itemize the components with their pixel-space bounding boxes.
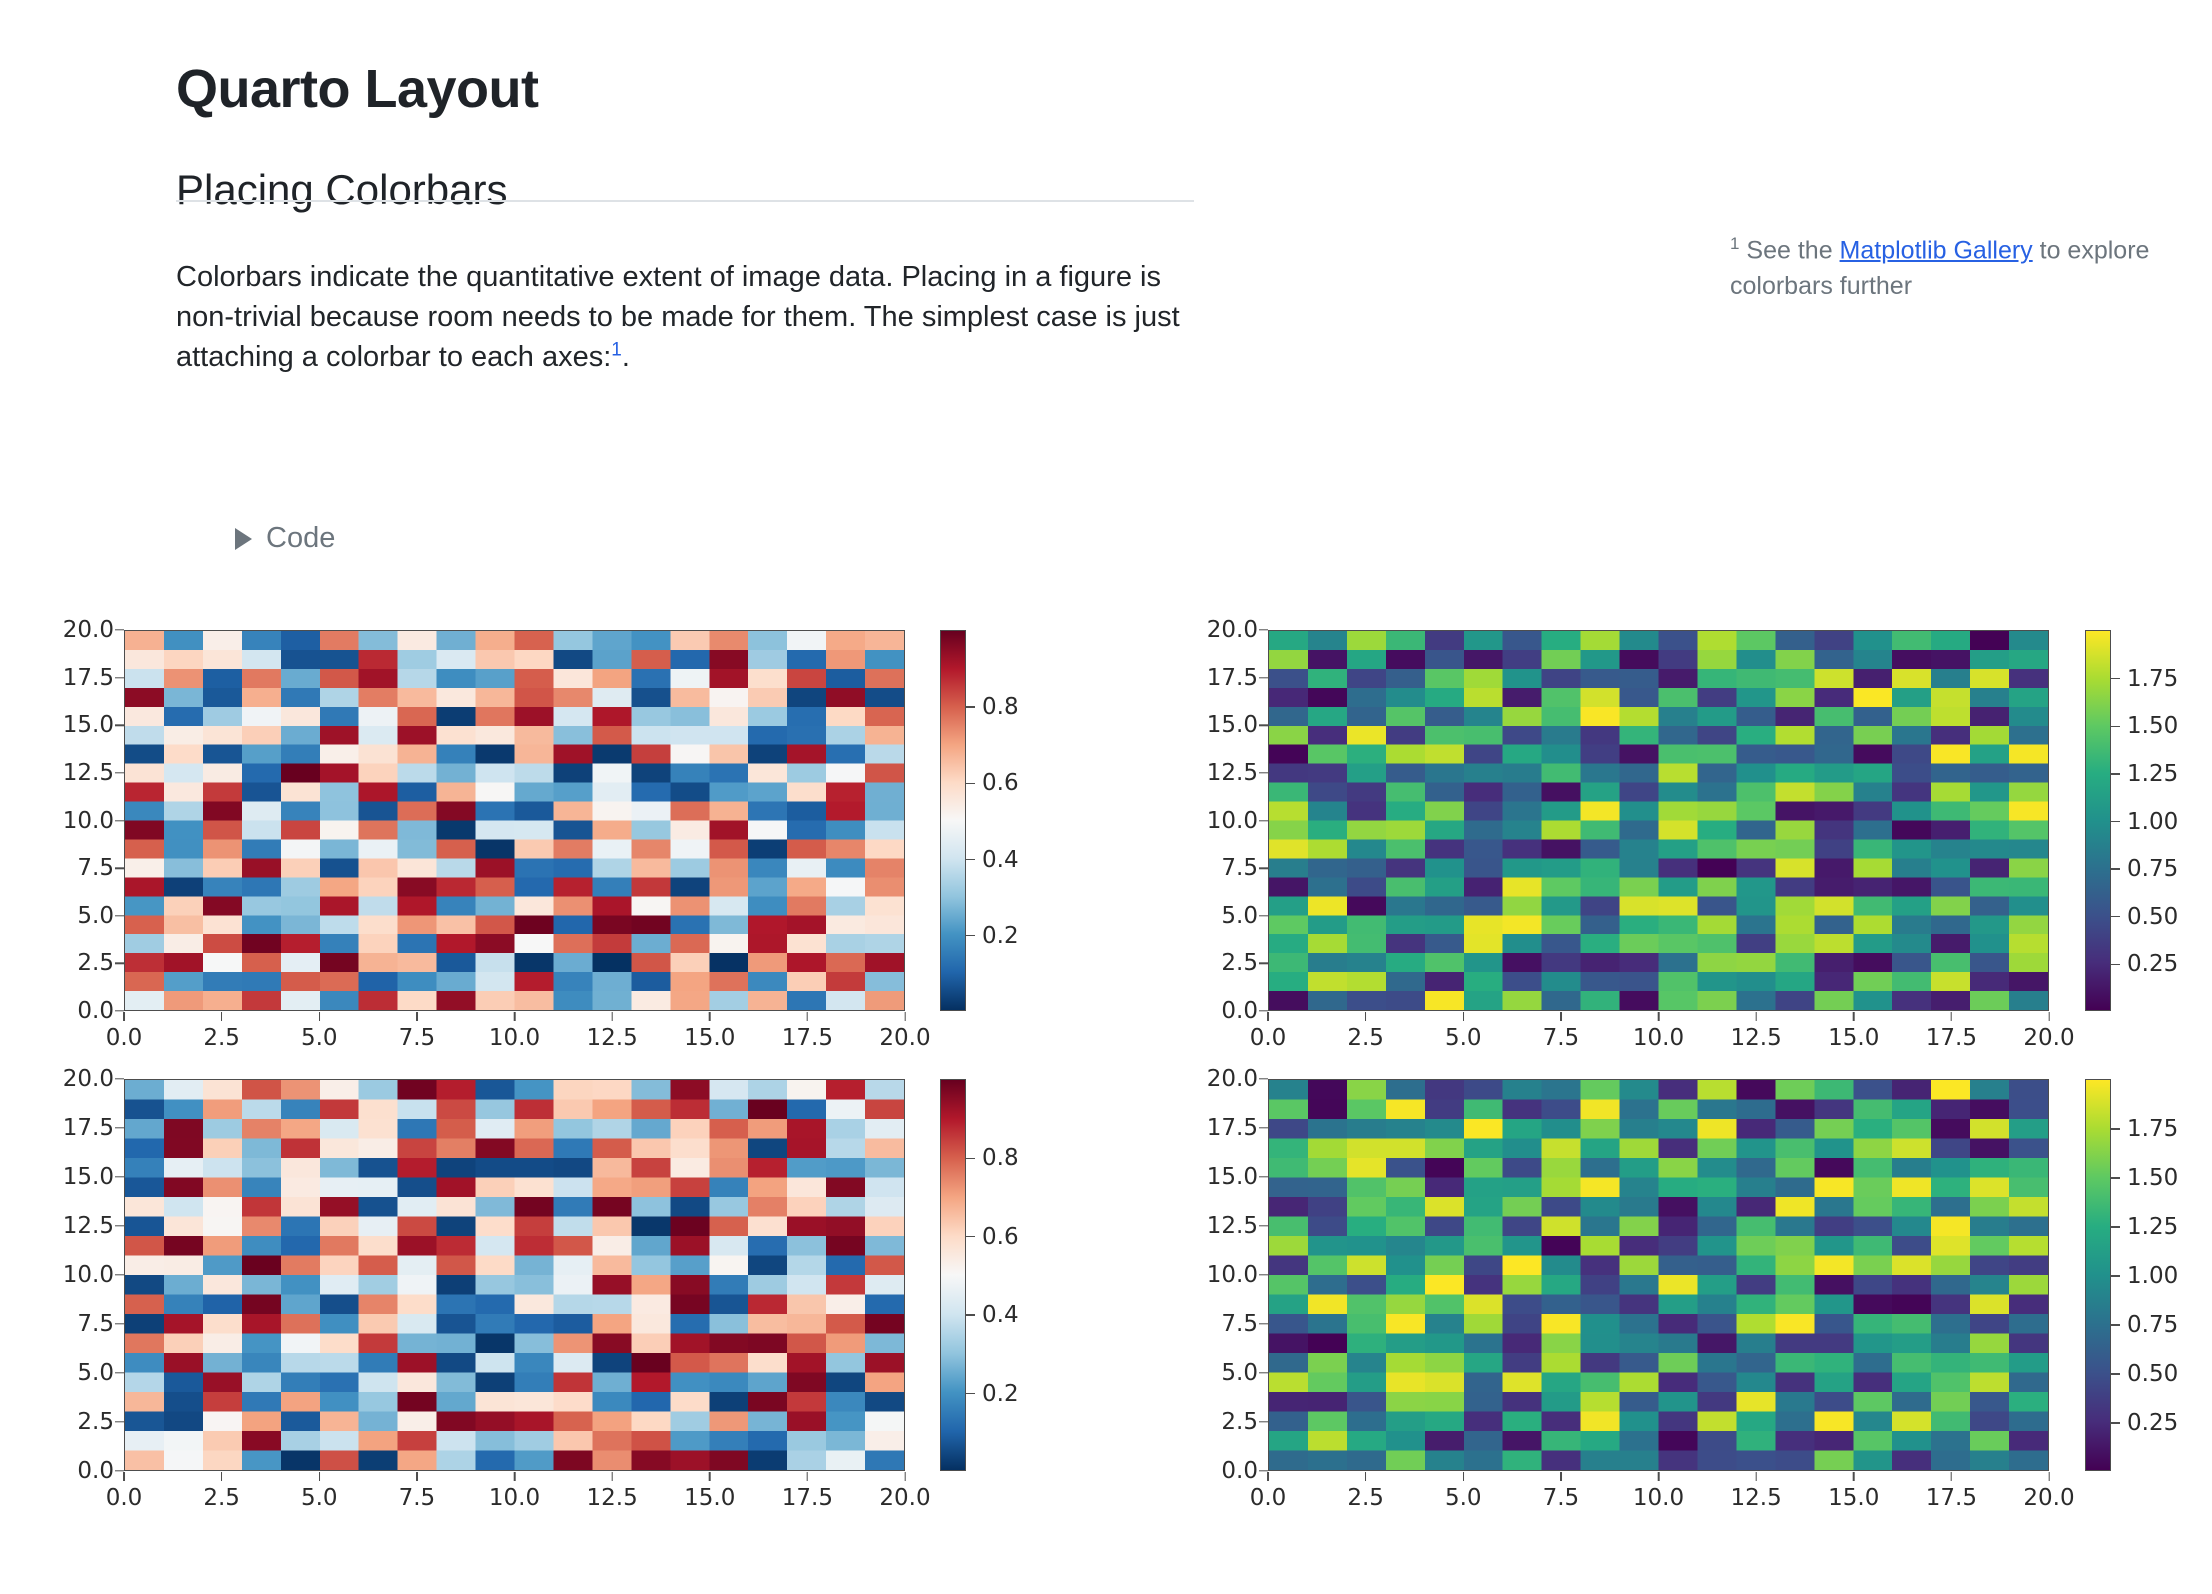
ytick-label: 10.0 bbox=[1207, 808, 1258, 834]
colorbar-tick: 1.50 bbox=[2110, 1165, 2178, 1191]
xtick-mark bbox=[221, 1012, 222, 1021]
code-disclosure-toggle[interactable]: Code bbox=[235, 522, 335, 555]
xtick-mark bbox=[2048, 1012, 2049, 1021]
ytick-label: 10.0 bbox=[63, 1262, 114, 1288]
ytick-label: 0.0 bbox=[1221, 998, 1258, 1024]
colorbar-tick-mark bbox=[2110, 821, 2120, 822]
heatmap-top-left-ytick-labels: 0.02.55.07.510.012.515.017.520.0 bbox=[48, 630, 114, 1011]
ytick-label: 5.0 bbox=[1221, 1360, 1258, 1386]
xtick-mark bbox=[904, 1012, 905, 1021]
colorbar-tick-mark bbox=[2110, 964, 2120, 965]
colorbar-tick: 0.25 bbox=[2110, 1410, 2178, 1436]
xtick-mark bbox=[1267, 1472, 1268, 1481]
colorbar-tick-mark bbox=[2110, 1275, 2120, 1276]
colorbar-tick-label: 0.4 bbox=[982, 1302, 1019, 1328]
colorbar-tick-mark bbox=[2110, 1373, 2120, 1374]
ytick-mark bbox=[115, 1010, 124, 1011]
heatmap-top-right-colorbar: 0.250.500.751.001.251.501.75 bbox=[2085, 630, 2111, 1011]
footnote-reference-link[interactable]: 1 bbox=[611, 339, 622, 360]
colorbar-tick: 1.25 bbox=[2110, 1214, 2178, 1240]
xtick-label: 5.0 bbox=[301, 1485, 338, 1511]
ytick-mark bbox=[1259, 1225, 1268, 1226]
xtick-label: 17.5 bbox=[1926, 1485, 1977, 1511]
heatmap-top-left-colorbar: 0.20.40.60.8 bbox=[940, 630, 966, 1011]
ytick-mark bbox=[115, 772, 124, 773]
colorbar-tick-label: 1.25 bbox=[2127, 761, 2178, 787]
colorbar-tick-label: 0.8 bbox=[982, 694, 1019, 720]
ytick-mark bbox=[1259, 1372, 1268, 1373]
xtick-mark bbox=[709, 1012, 710, 1021]
xtick-mark bbox=[1951, 1472, 1952, 1481]
colorbar-tick: 0.4 bbox=[965, 847, 1019, 873]
ytick-label: 2.5 bbox=[1221, 1409, 1258, 1435]
xtick-label: 2.5 bbox=[1347, 1485, 1384, 1511]
colorbar-tick-label: 1.25 bbox=[2127, 1214, 2178, 1240]
colorbar-tick: 0.2 bbox=[965, 1381, 1019, 1407]
ytick-label: 2.5 bbox=[1221, 950, 1258, 976]
colorbar-tick-mark bbox=[965, 1158, 975, 1159]
xtick-label: 7.5 bbox=[399, 1485, 436, 1511]
xtick-mark bbox=[1463, 1012, 1464, 1021]
ytick-mark bbox=[1259, 1127, 1268, 1128]
xtick-label: 7.5 bbox=[1543, 1485, 1580, 1511]
xtick-mark bbox=[1755, 1012, 1756, 1021]
heatmap-top-right-xtick-labels: 0.02.55.07.510.012.515.017.520.0 bbox=[1268, 1025, 2049, 1059]
colorbar-tick-mark bbox=[2110, 1422, 2120, 1423]
xtick-mark bbox=[709, 1472, 710, 1481]
ytick-mark bbox=[115, 1225, 124, 1226]
xtick-mark bbox=[1755, 1472, 1756, 1481]
xtick-mark bbox=[1365, 1472, 1366, 1481]
colorbar-tick-mark bbox=[965, 1314, 975, 1315]
colorbar-tick-label: 0.6 bbox=[982, 770, 1019, 796]
page-root: Quarto Layout Placing Colorbars Colorbar… bbox=[0, 0, 2212, 1594]
heatmap-top-right-cells bbox=[1269, 631, 2048, 1010]
xtick-mark bbox=[1951, 1012, 1952, 1021]
xtick-mark bbox=[807, 1472, 808, 1481]
ytick-label: 20.0 bbox=[63, 617, 114, 643]
xtick-mark bbox=[514, 1012, 515, 1021]
ytick-label: 5.0 bbox=[1221, 903, 1258, 929]
xtick-mark bbox=[1658, 1472, 1659, 1481]
heatmap-top-left-cells bbox=[125, 631, 904, 1010]
margin-footnote: 1 See the Matplotlib Gallery to explore … bbox=[1730, 232, 2174, 304]
ytick-label: 7.5 bbox=[77, 855, 114, 881]
xtick-mark bbox=[1560, 1012, 1561, 1021]
triangle-right-icon bbox=[235, 528, 252, 550]
xtick-label: 0.0 bbox=[106, 1025, 143, 1051]
heatmap-top-left-axes bbox=[124, 630, 905, 1011]
ytick-mark bbox=[1259, 1421, 1268, 1422]
ytick-mark bbox=[1259, 1323, 1268, 1324]
heatmap-top-right-ytick-labels: 0.02.55.07.510.012.515.017.520.0 bbox=[1192, 630, 1258, 1011]
xtick-label: 2.5 bbox=[1347, 1025, 1384, 1051]
colorbar-tick: 0.25 bbox=[2110, 951, 2178, 977]
ytick-mark bbox=[115, 1127, 124, 1128]
section-heading: Placing Colorbars bbox=[176, 166, 508, 214]
xtick-mark bbox=[1853, 1012, 1854, 1021]
xtick-mark bbox=[611, 1012, 612, 1021]
ytick-mark bbox=[1259, 677, 1268, 678]
ytick-mark bbox=[115, 1176, 124, 1177]
colorbar-tick: 1.50 bbox=[2110, 713, 2178, 739]
colorbar-tick: 1.00 bbox=[2110, 1263, 2178, 1289]
xtick-label: 15.0 bbox=[1828, 1025, 1879, 1051]
colorbar-tick-label: 1.75 bbox=[2127, 666, 2178, 692]
xtick-label: 20.0 bbox=[2023, 1025, 2074, 1051]
ytick-mark bbox=[115, 1078, 124, 1079]
ytick-label: 5.0 bbox=[77, 1360, 114, 1386]
ytick-mark bbox=[1259, 772, 1268, 773]
xtick-label: 20.0 bbox=[879, 1485, 930, 1511]
colorbar-tick-label: 1.75 bbox=[2127, 1116, 2178, 1142]
xtick-mark bbox=[319, 1472, 320, 1481]
colorbar-tick-mark bbox=[2110, 916, 2120, 917]
colorbar-tick-label: 0.4 bbox=[982, 847, 1019, 873]
colorbar-tick-mark bbox=[2110, 1226, 2120, 1227]
colorbar-tick: 1.00 bbox=[2110, 809, 2178, 835]
ytick-label: 5.0 bbox=[77, 903, 114, 929]
colorbar-tick-label: 1.00 bbox=[2127, 1263, 2178, 1289]
ytick-label: 12.5 bbox=[63, 1213, 114, 1239]
xtick-mark bbox=[2048, 1472, 2049, 1481]
xtick-label: 20.0 bbox=[879, 1025, 930, 1051]
ytick-mark bbox=[1259, 725, 1268, 726]
ytick-label: 15.0 bbox=[63, 712, 114, 738]
ytick-mark bbox=[1259, 1010, 1268, 1011]
colorbar-tick-label: 0.2 bbox=[982, 1381, 1019, 1407]
xtick-label: 5.0 bbox=[1445, 1485, 1482, 1511]
colorbar-tick: 1.25 bbox=[2110, 761, 2178, 787]
colorbar-tick: 0.75 bbox=[2110, 1312, 2178, 1338]
heatmap-bottom-left-ytick-labels: 0.02.55.07.510.012.515.017.520.0 bbox=[48, 1079, 114, 1471]
xtick-mark bbox=[1365, 1012, 1366, 1021]
xtick-mark bbox=[904, 1472, 905, 1481]
ytick-mark bbox=[1259, 1274, 1268, 1275]
ytick-mark bbox=[1259, 867, 1268, 868]
colorbar-tick-label: 0.50 bbox=[2127, 904, 2178, 930]
xtick-label: 12.5 bbox=[1731, 1485, 1782, 1511]
heatmap-bottom-right-xtick-labels: 0.02.55.07.510.012.515.017.520.0 bbox=[1268, 1485, 2049, 1519]
xtick-label: 17.5 bbox=[782, 1485, 833, 1511]
colorbar-tick-label: 0.8 bbox=[982, 1145, 1019, 1171]
xtick-mark bbox=[319, 1012, 320, 1021]
section-divider bbox=[176, 200, 1194, 202]
xtick-label: 12.5 bbox=[587, 1025, 638, 1051]
ytick-mark bbox=[115, 820, 124, 821]
colorbar-tick-mark bbox=[2110, 1177, 2120, 1178]
xtick-mark bbox=[1560, 1472, 1561, 1481]
xtick-label: 5.0 bbox=[301, 1025, 338, 1051]
ytick-label: 17.5 bbox=[63, 1115, 114, 1141]
xtick-label: 10.0 bbox=[489, 1485, 540, 1511]
ytick-label: 0.0 bbox=[77, 1458, 114, 1484]
ytick-label: 0.0 bbox=[77, 998, 114, 1024]
ytick-label: 17.5 bbox=[1207, 665, 1258, 691]
colorbar-tick-label: 0.25 bbox=[2127, 951, 2178, 977]
heatmap-top-right-axes bbox=[1268, 630, 2049, 1011]
colorbar-tick: 0.6 bbox=[965, 1224, 1019, 1250]
ytick-label: 0.0 bbox=[1221, 1458, 1258, 1484]
xtick-label: 10.0 bbox=[1633, 1485, 1684, 1511]
xtick-label: 17.5 bbox=[1926, 1025, 1977, 1051]
colorbar-tick: 0.8 bbox=[965, 1145, 1019, 1171]
xtick-label: 0.0 bbox=[1250, 1025, 1287, 1051]
heatmap-bottom-left-axes bbox=[124, 1079, 905, 1471]
footnote-text-before: See the bbox=[1739, 236, 1839, 264]
ytick-mark bbox=[115, 725, 124, 726]
xtick-label: 5.0 bbox=[1445, 1025, 1482, 1051]
xtick-mark bbox=[416, 1012, 417, 1021]
ytick-mark bbox=[115, 963, 124, 964]
heatmap-bottom-left-xtick-labels: 0.02.55.07.510.012.515.017.520.0 bbox=[124, 1485, 905, 1519]
colorbar-tick-label: 0.6 bbox=[982, 1224, 1019, 1250]
heatmap-bottom-right-ytick-labels: 0.02.55.07.510.012.515.017.520.0 bbox=[1192, 1079, 1258, 1471]
xtick-mark bbox=[1463, 1472, 1464, 1481]
colorbar-tick: 0.50 bbox=[2110, 904, 2178, 930]
ytick-mark bbox=[115, 1372, 124, 1373]
intro-paragraph: Colorbars indicate the quantitative exte… bbox=[176, 257, 1192, 377]
ytick-mark bbox=[115, 1421, 124, 1422]
colorbar-tick-mark bbox=[965, 783, 975, 784]
xtick-mark bbox=[611, 1472, 612, 1481]
colorbar-tick-mark bbox=[965, 1236, 975, 1237]
colorbar-tick-mark bbox=[2110, 726, 2120, 727]
ytick-mark bbox=[1259, 915, 1268, 916]
ytick-label: 15.0 bbox=[63, 1164, 114, 1190]
heatmap-bottom-left-cells bbox=[125, 1080, 904, 1470]
colorbar-tick-mark bbox=[2110, 773, 2120, 774]
xtick-label: 20.0 bbox=[2023, 1485, 2074, 1511]
ytick-label: 15.0 bbox=[1207, 712, 1258, 738]
colorbar-tick: 0.4 bbox=[965, 1302, 1019, 1328]
heatmap-bottom-right-cells bbox=[1269, 1080, 2048, 1470]
xtick-mark bbox=[416, 1472, 417, 1481]
ytick-mark bbox=[1259, 1176, 1268, 1177]
heatmap-bottom-left-colorbar: 0.20.40.60.8 bbox=[940, 1079, 966, 1471]
colorbar-tick-mark bbox=[2110, 678, 2120, 679]
ytick-mark bbox=[115, 1470, 124, 1471]
ytick-label: 20.0 bbox=[1207, 617, 1258, 643]
colorbar-tick-mark bbox=[965, 859, 975, 860]
xtick-label: 10.0 bbox=[1633, 1025, 1684, 1051]
colorbar-tick-mark bbox=[965, 935, 975, 936]
colorbar-tick-mark bbox=[965, 1393, 975, 1394]
ytick-mark bbox=[115, 867, 124, 868]
xtick-mark bbox=[221, 1472, 222, 1481]
xtick-label: 15.0 bbox=[684, 1025, 735, 1051]
xtick-label: 0.0 bbox=[1250, 1485, 1287, 1511]
ytick-label: 10.0 bbox=[63, 808, 114, 834]
ytick-mark bbox=[1259, 1470, 1268, 1471]
xtick-label: 12.5 bbox=[1731, 1025, 1782, 1051]
ytick-label: 17.5 bbox=[1207, 1115, 1258, 1141]
ytick-label: 12.5 bbox=[63, 760, 114, 786]
ytick-mark bbox=[115, 1323, 124, 1324]
ytick-mark bbox=[115, 629, 124, 630]
xtick-label: 7.5 bbox=[1543, 1025, 1580, 1051]
code-disclosure-label: Code bbox=[266, 522, 335, 555]
ytick-mark bbox=[115, 1274, 124, 1275]
heatmap-bottom-right-axes bbox=[1268, 1079, 2049, 1471]
intro-paragraph-text: Colorbars indicate the quantitative exte… bbox=[176, 261, 1180, 373]
colorbar-tick: 0.2 bbox=[965, 923, 1019, 949]
colorbar-tick-label: 0.25 bbox=[2127, 1410, 2178, 1436]
ytick-label: 17.5 bbox=[63, 665, 114, 691]
xtick-mark bbox=[1853, 1472, 1854, 1481]
ytick-mark bbox=[115, 915, 124, 916]
colorbar-tick-label: 1.50 bbox=[2127, 1165, 2178, 1191]
colorbar-tick: 0.8 bbox=[965, 694, 1019, 720]
colorbar-tick-label: 1.00 bbox=[2127, 809, 2178, 835]
xtick-mark bbox=[123, 1012, 124, 1021]
colorbar-tick-mark bbox=[965, 706, 975, 707]
xtick-label: 0.0 bbox=[106, 1485, 143, 1511]
xtick-label: 15.0 bbox=[684, 1485, 735, 1511]
ytick-mark bbox=[1259, 629, 1268, 630]
page-title: Quarto Layout bbox=[176, 58, 539, 120]
intro-paragraph-period: . bbox=[622, 341, 630, 373]
colorbar-tick: 1.75 bbox=[2110, 666, 2178, 692]
colorbar-tick: 0.50 bbox=[2110, 1361, 2178, 1387]
xtick-mark bbox=[123, 1472, 124, 1481]
ytick-label: 20.0 bbox=[63, 1066, 114, 1092]
colorbar-tick-label: 0.75 bbox=[2127, 1312, 2178, 1338]
ytick-label: 2.5 bbox=[77, 1409, 114, 1435]
ytick-label: 10.0 bbox=[1207, 1262, 1258, 1288]
xtick-label: 10.0 bbox=[489, 1025, 540, 1051]
ytick-mark bbox=[115, 677, 124, 678]
xtick-label: 2.5 bbox=[203, 1485, 240, 1511]
matplotlib-gallery-link[interactable]: Matplotlib Gallery bbox=[1840, 236, 2033, 264]
ytick-label: 12.5 bbox=[1207, 1213, 1258, 1239]
ytick-label: 20.0 bbox=[1207, 1066, 1258, 1092]
xtick-label: 12.5 bbox=[587, 1485, 638, 1511]
ytick-label: 7.5 bbox=[77, 1311, 114, 1337]
ytick-label: 7.5 bbox=[1221, 855, 1258, 881]
colorbar-tick-label: 0.75 bbox=[2127, 856, 2178, 882]
xtick-mark bbox=[807, 1012, 808, 1021]
xtick-mark bbox=[514, 1472, 515, 1481]
ytick-label: 7.5 bbox=[1221, 1311, 1258, 1337]
xtick-mark bbox=[1267, 1012, 1268, 1021]
ytick-mark bbox=[1259, 820, 1268, 821]
xtick-label: 7.5 bbox=[399, 1025, 436, 1051]
xtick-label: 2.5 bbox=[203, 1025, 240, 1051]
colorbar-tick-label: 0.2 bbox=[982, 923, 1019, 949]
xtick-label: 15.0 bbox=[1828, 1485, 1879, 1511]
colorbar-tick-mark bbox=[2110, 1324, 2120, 1325]
colorbar-tick-mark bbox=[2110, 868, 2120, 869]
heatmap-bottom-right-colorbar: 0.250.500.751.001.251.501.75 bbox=[2085, 1079, 2111, 1471]
ytick-label: 15.0 bbox=[1207, 1164, 1258, 1190]
colorbar-tick: 0.75 bbox=[2110, 856, 2178, 882]
xtick-mark bbox=[1658, 1012, 1659, 1021]
xtick-label: 17.5 bbox=[782, 1025, 833, 1051]
colorbar-tick-mark bbox=[2110, 1128, 2120, 1129]
colorbar-tick: 1.75 bbox=[2110, 1116, 2178, 1142]
ytick-mark bbox=[1259, 963, 1268, 964]
ytick-mark bbox=[1259, 1078, 1268, 1079]
colorbar-tick-label: 1.50 bbox=[2127, 713, 2178, 739]
colorbar-tick: 0.6 bbox=[965, 770, 1019, 796]
ytick-label: 2.5 bbox=[77, 950, 114, 976]
colorbar-tick-label: 0.50 bbox=[2127, 1361, 2178, 1387]
ytick-label: 12.5 bbox=[1207, 760, 1258, 786]
heatmap-top-left-xtick-labels: 0.02.55.07.510.012.515.017.520.0 bbox=[124, 1025, 905, 1059]
